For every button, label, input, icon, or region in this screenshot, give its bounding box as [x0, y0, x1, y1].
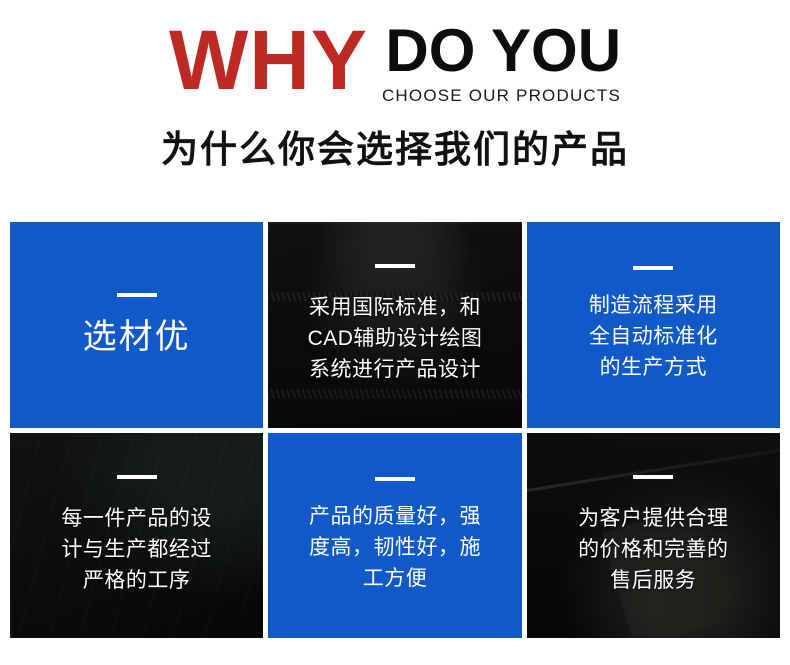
headline-why: WHY	[169, 18, 368, 102]
feature-grid: 选材优 采用国际标准，和 CAD辅助设计绘图 系统进行产品设计 制造流程采用 全…	[10, 222, 780, 638]
feature-cell-4-text: 每一件产品的设 计与生产都经过 严格的工序	[61, 503, 212, 596]
feature-cell-5-inner: 产品的质量好，强 度高，韧性好，施 工方便	[268, 477, 521, 594]
header: WHY DO YOU CHOOSE OUR PRODUCTS 为什么你会选择我们…	[0, 0, 790, 215]
feature-cell-5-text: 产品的质量好，强 度高，韧性好，施 工方便	[309, 501, 481, 594]
feature-cell-4[interactable]: 每一件产品的设 计与生产都经过 严格的工序	[10, 433, 263, 639]
headline-do-you: DO YOU	[385, 20, 621, 82]
feature-cell-1-text: 选材优	[83, 317, 191, 357]
feature-cell-3-text: 制造流程采用 全自动标准化 的生产方式	[589, 290, 718, 383]
divider-dash-icon	[375, 264, 415, 268]
feature-cell-2[interactable]: 采用国际标准，和 CAD辅助设计绘图 系统进行产品设计	[268, 222, 521, 428]
feature-cell-4-inner: 每一件产品的设 计与生产都经过 严格的工序	[10, 475, 263, 596]
promo-banner: WHY DO YOU CHOOSE OUR PRODUCTS 为什么你会选择我们…	[0, 0, 790, 665]
feature-cell-6-inner: 为客户提供合理 的价格和完善的 售后服务	[527, 475, 780, 596]
feature-cell-3[interactable]: 制造流程采用 全自动标准化 的生产方式	[527, 222, 780, 428]
headline-subtitle-en: CHOOSE OUR PRODUCTS	[382, 86, 621, 106]
feature-cell-5[interactable]: 产品的质量好，强 度高，韧性好，施 工方便	[268, 433, 521, 639]
divider-dash-icon	[117, 475, 157, 479]
headline-english-block: DO YOU CHOOSE OUR PRODUCTS	[382, 18, 621, 106]
feature-cell-2-inner: 采用国际标准，和 CAD辅助设计绘图 系统进行产品设计	[268, 264, 521, 385]
feature-cell-2-text: 采用国际标准，和 CAD辅助设计绘图 系统进行产品设计	[308, 292, 483, 385]
feature-cell-6[interactable]: 为客户提供合理 的价格和完善的 售后服务	[527, 433, 780, 639]
feature-cell-6-text: 为客户提供合理 的价格和完善的 售后服务	[578, 503, 729, 596]
headline-chinese: 为什么你会选择我们的产品	[0, 128, 790, 172]
feature-cell-1[interactable]: 选材优	[10, 222, 263, 428]
headline-row: WHY DO YOU CHOOSE OUR PRODUCTS	[0, 18, 790, 106]
divider-dash-icon	[117, 293, 157, 297]
feature-cell-1-inner: 选材优	[10, 293, 263, 357]
divider-dash-icon	[633, 475, 673, 479]
divider-dash-icon	[633, 266, 673, 270]
feature-cell-3-inner: 制造流程采用 全自动标准化 的生产方式	[527, 266, 780, 383]
divider-dash-icon	[375, 477, 415, 481]
